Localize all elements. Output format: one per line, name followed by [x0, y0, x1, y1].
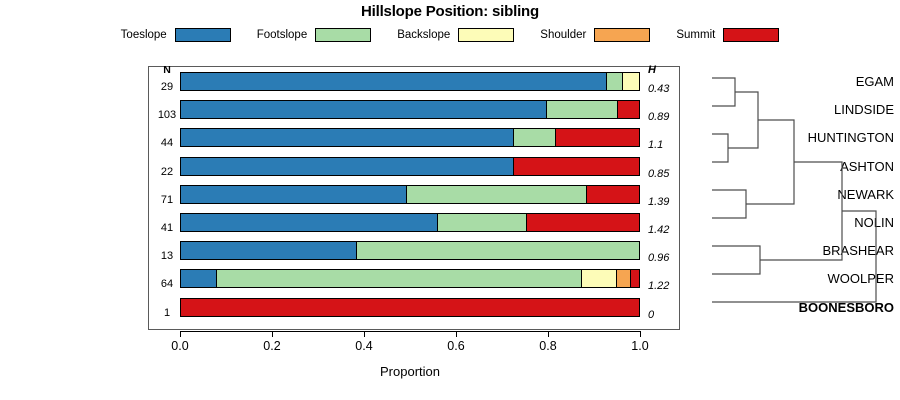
dendro-link-root-boonesboro: [712, 211, 876, 302]
bar-segment-footslope[interactable]: [357, 242, 639, 259]
legend-swatch-toeslope: [175, 28, 231, 42]
bar-segment-summit[interactable]: [527, 214, 639, 231]
bar-segment-toeslope[interactable]: [181, 214, 438, 231]
legend-item-backslope: Backslope: [397, 28, 514, 42]
h-value-egam: 0.43: [648, 83, 690, 95]
n-value-boonesboro: 1: [152, 307, 182, 319]
bar-row[interactable]: [180, 185, 640, 204]
bar-row[interactable]: [180, 157, 640, 176]
bar-segment-summit[interactable]: [618, 101, 639, 118]
column-header-h: H: [648, 64, 690, 76]
bar-segment-backslope[interactable]: [582, 270, 618, 287]
bar-row[interactable]: [180, 128, 640, 147]
h-value-nolin: 1.42: [648, 224, 690, 236]
legend-item-shoulder: Shoulder: [540, 28, 650, 42]
legend-swatch-shoulder: [594, 28, 650, 42]
x-tick: [180, 331, 181, 337]
x-tick: [364, 331, 365, 337]
bar-segment-summit[interactable]: [587, 186, 639, 203]
h-value-newark: 1.39: [648, 196, 690, 208]
legend-label-shoulder: Shoulder: [540, 29, 586, 41]
n-value-nolin: 41: [152, 222, 182, 234]
bar-segment-footslope[interactable]: [407, 186, 587, 203]
bar-segment-footslope[interactable]: [607, 73, 623, 90]
dendrogram: [690, 60, 900, 340]
legend-item-footslope: Footslope: [257, 28, 372, 42]
n-value-ashton: 22: [152, 166, 182, 178]
legend-swatch-summit: [723, 28, 779, 42]
legend: Toeslope Footslope Backslope Shoulder Su…: [0, 26, 900, 44]
bar-row[interactable]: [180, 241, 640, 260]
bar-segment-toeslope[interactable]: [181, 158, 514, 175]
dendro-link-newark-nolin: [712, 190, 746, 218]
bar-segment-summit[interactable]: [631, 270, 639, 287]
bar-row[interactable]: [180, 72, 640, 91]
bar-segment-backslope[interactable]: [623, 73, 639, 90]
column-header-n: N: [152, 64, 182, 76]
bar-segment-shoulder[interactable]: [617, 270, 631, 287]
dendro-link-egam-lindside: [712, 78, 735, 106]
x-tick-label: 0.6: [436, 339, 476, 353]
legend-label-toeslope: Toeslope: [121, 29, 167, 41]
x-axis-title: Proportion: [140, 364, 680, 379]
bar-row[interactable]: [180, 213, 640, 232]
legend-item-toeslope: Toeslope: [121, 28, 231, 42]
h-value-ashton: 0.85: [648, 168, 690, 180]
n-value-newark: 71: [152, 194, 182, 206]
bar-segment-toeslope[interactable]: [181, 73, 607, 90]
x-tick: [640, 331, 641, 337]
bar-segment-footslope[interactable]: [438, 214, 527, 231]
legend-label-footslope: Footslope: [257, 29, 308, 41]
dendro-link-cluster6: [746, 120, 794, 204]
bar-row[interactable]: [180, 100, 640, 119]
legend-swatch-backslope: [458, 28, 514, 42]
x-tick: [456, 331, 457, 337]
dendro-link-huntington-ashton: [712, 134, 728, 162]
bar-segment-toeslope[interactable]: [181, 242, 357, 259]
x-tick-label: 0.4: [344, 339, 384, 353]
dendro-link-cluster8: [760, 162, 842, 260]
bar-row[interactable]: [180, 269, 640, 288]
x-tick-label: 0.2: [252, 339, 292, 353]
n-value-huntington: 44: [152, 137, 182, 149]
bar-row[interactable]: [180, 298, 640, 317]
bar-segment-summit[interactable]: [514, 158, 639, 175]
h-value-boonesboro: 0: [648, 309, 690, 321]
dendro-link-cluster-top4: [728, 92, 758, 148]
x-tick-label: 0.0: [160, 339, 200, 353]
bar-segment-footslope[interactable]: [514, 129, 556, 146]
bar-segment-toeslope[interactable]: [181, 270, 217, 287]
x-tick: [548, 331, 549, 337]
bar-segment-toeslope[interactable]: [181, 129, 514, 146]
n-value-brashear: 13: [152, 250, 182, 262]
page-title: Hillslope Position: sibling: [0, 3, 900, 20]
h-value-lindside: 0.89: [648, 111, 690, 123]
h-value-brashear: 0.96: [648, 252, 690, 264]
h-value-huntington: 1.1: [648, 139, 690, 151]
n-value-woolper: 64: [152, 278, 182, 290]
bar-segment-summit[interactable]: [181, 299, 639, 316]
x-tick-label: 1.0: [620, 339, 660, 353]
h-value-woolper: 1.22: [648, 280, 690, 292]
n-value-egam: 29: [152, 81, 182, 93]
dendrogram-svg: [690, 60, 900, 340]
legend-swatch-footslope: [315, 28, 371, 42]
bar-segment-footslope[interactable]: [547, 101, 618, 118]
bar-segment-toeslope[interactable]: [181, 186, 407, 203]
bar-segment-footslope[interactable]: [217, 270, 582, 287]
bar-segment-summit[interactable]: [556, 129, 639, 146]
chart-root: Hillslope Position: sibling Toeslope Foo…: [0, 0, 900, 400]
bar-segment-toeslope[interactable]: [181, 101, 547, 118]
x-axis-line: [180, 331, 640, 332]
legend-label-summit: Summit: [676, 29, 715, 41]
dendro-link-brashear-woolper: [712, 246, 760, 274]
legend-item-summit: Summit: [676, 28, 779, 42]
n-value-lindside: 103: [152, 109, 182, 121]
legend-label-backslope: Backslope: [397, 29, 450, 41]
x-tick: [272, 331, 273, 337]
x-tick-label: 0.8: [528, 339, 568, 353]
